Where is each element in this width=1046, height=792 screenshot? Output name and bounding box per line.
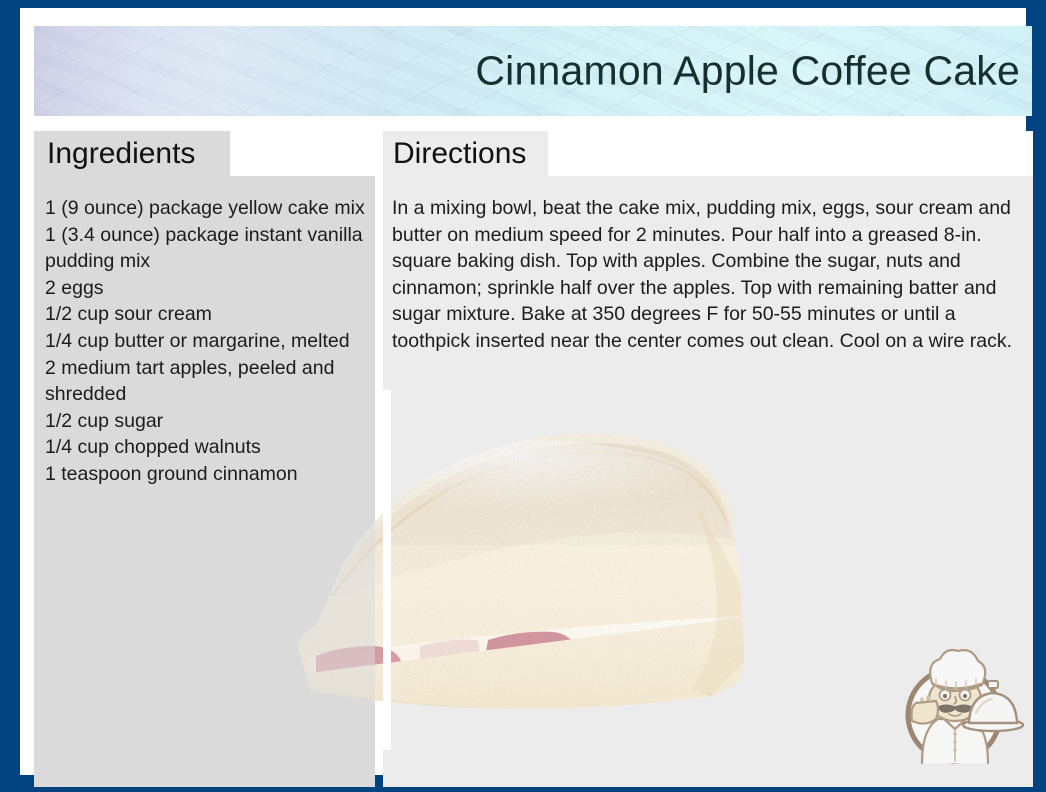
ingredient-item: 1 (3.4 ounce) package instant vanilla pu… [45, 222, 369, 275]
ingredient-item: 1/4 cup chopped walnuts [45, 434, 369, 461]
ingredient-item: 1 teaspoon ground cinnamon [45, 461, 369, 488]
ingredients-header-notch [230, 131, 375, 176]
ingredients-heading: Ingredients [47, 139, 195, 169]
directions-text: In a mixing bowl, beat the cake mix, pud… [392, 195, 1023, 355]
ingredients-list: 1 (9 ounce) package yellow cake mix 1 (3… [45, 195, 369, 488]
directions-heading: Directions [393, 139, 526, 169]
ingredient-item: 1/2 cup sugar [45, 408, 369, 435]
ingredient-item: 2 medium tart apples, peeled and shredde… [45, 355, 369, 408]
ingredient-item: 1/4 cup butter or margarine, melted [45, 328, 369, 355]
ingredient-item: 1 (9 ounce) package yellow cake mix [45, 195, 369, 222]
page-title: Cinnamon Apple Coffee Cake [475, 49, 1020, 92]
chef-mascot-logo [892, 639, 1024, 765]
ingredients-panel: Ingredients 1 (9 ounce) package yellow c… [34, 131, 375, 787]
card-inner-surface: Cinnamon Apple Coffee Cake Ingredients 1… [20, 8, 1026, 775]
title-banner: Cinnamon Apple Coffee Cake [34, 26, 1032, 116]
recipe-card: Cinnamon Apple Coffee Cake Ingredients 1… [0, 0, 1046, 792]
ingredient-item: 2 eggs [45, 275, 369, 302]
directions-header-notch [548, 131, 1033, 176]
ingredient-item: 1/2 cup sour cream [45, 301, 369, 328]
